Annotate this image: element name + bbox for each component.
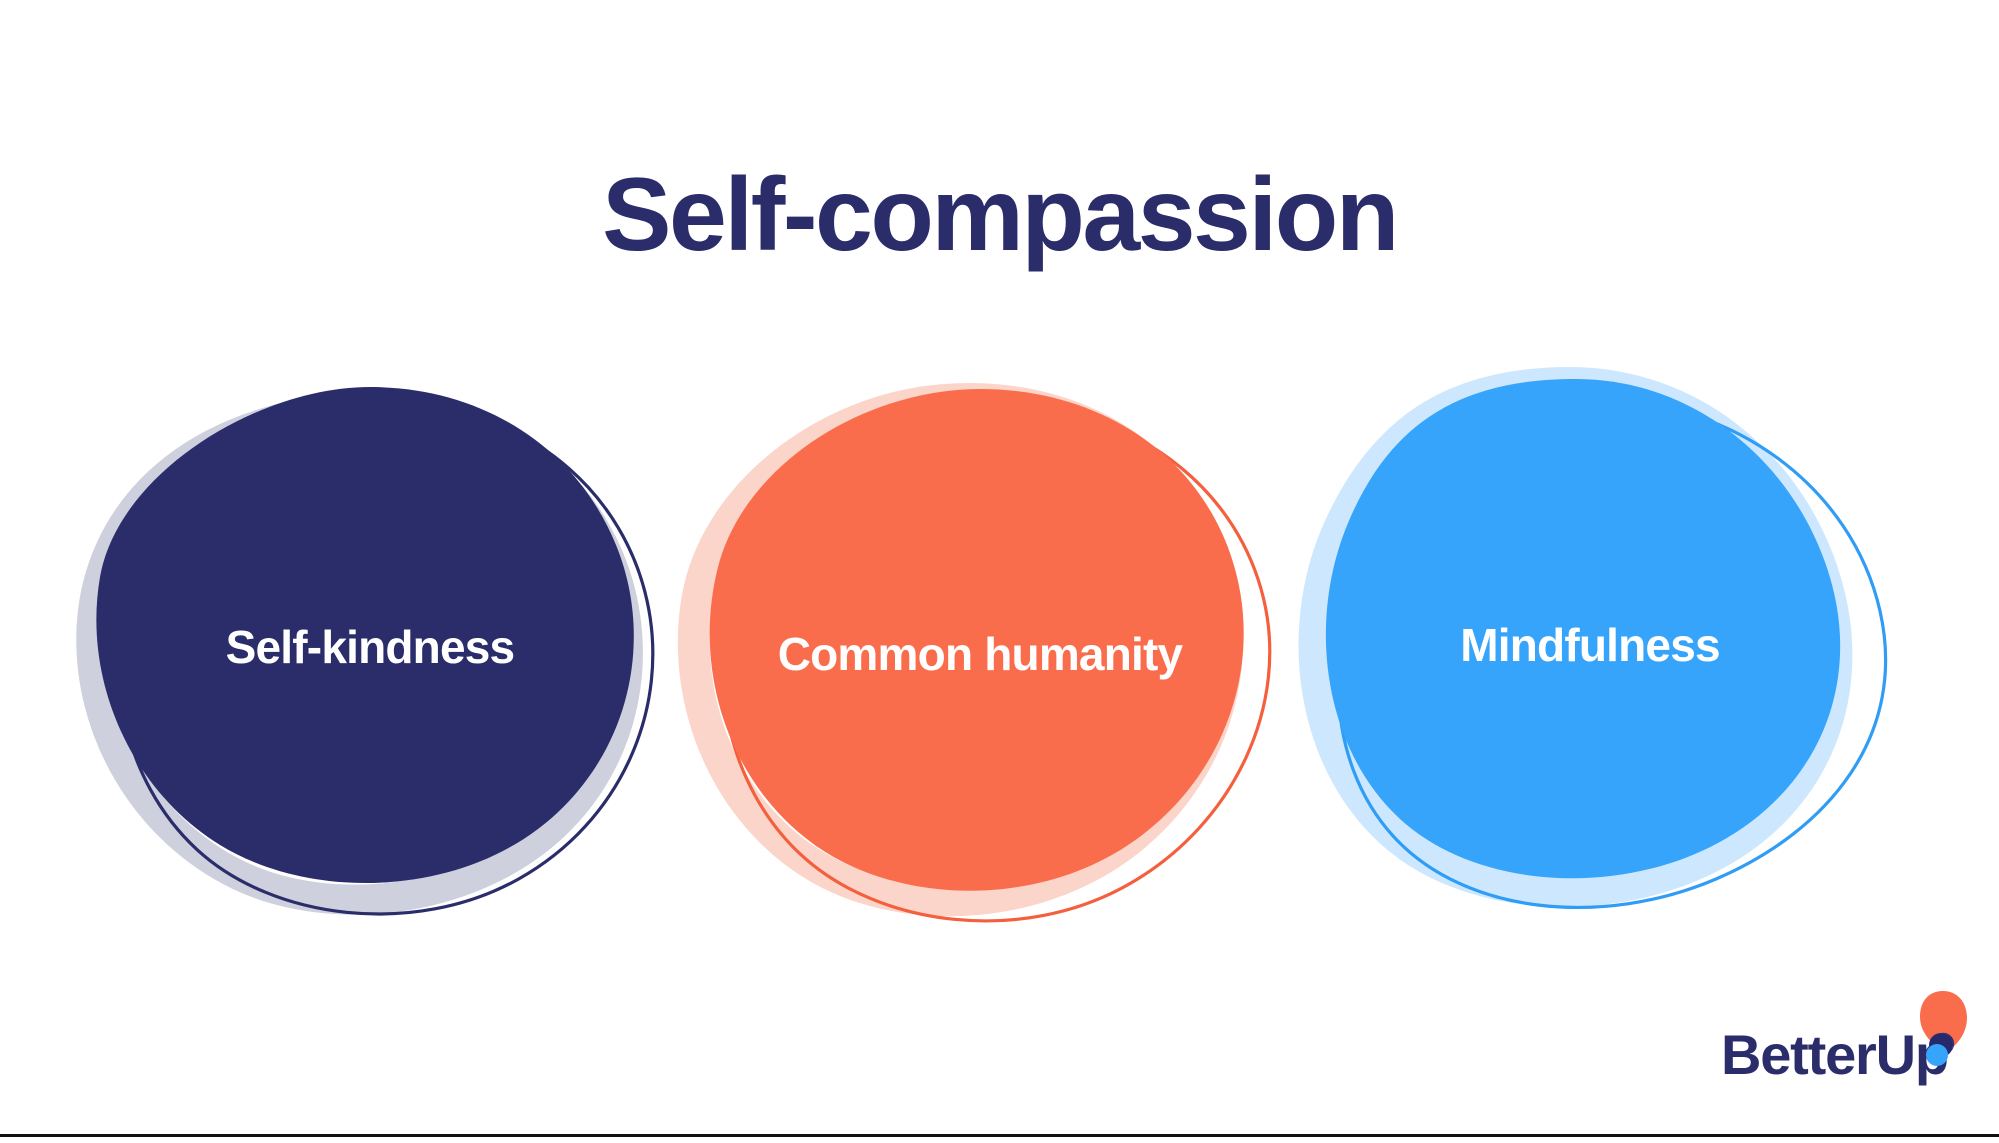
mindfulness-blob-shape — [1290, 355, 1890, 915]
concept-blob-common-humanity[interactable]: Common humanity — [680, 355, 1280, 915]
concept-blob-mindfulness[interactable]: Mindfulness — [1290, 355, 1890, 915]
footer-divider — [0, 1134, 1999, 1137]
slide-canvas: Self-compassion Self-kindness — [0, 0, 1999, 1143]
betterup-balloon-icon — [1913, 987, 1983, 1077]
betterup-logo[interactable]: BetterUp — [1721, 1002, 1971, 1102]
common-humanity-blob-shape — [680, 355, 1280, 915]
page-title: Self-compassion — [0, 158, 1999, 272]
concept-blob-row: Self-kindness Common humanity — [0, 355, 1999, 915]
concept-blob-self-kindness[interactable]: Self-kindness — [70, 355, 670, 915]
self-kindness-blob-shape — [70, 355, 670, 915]
